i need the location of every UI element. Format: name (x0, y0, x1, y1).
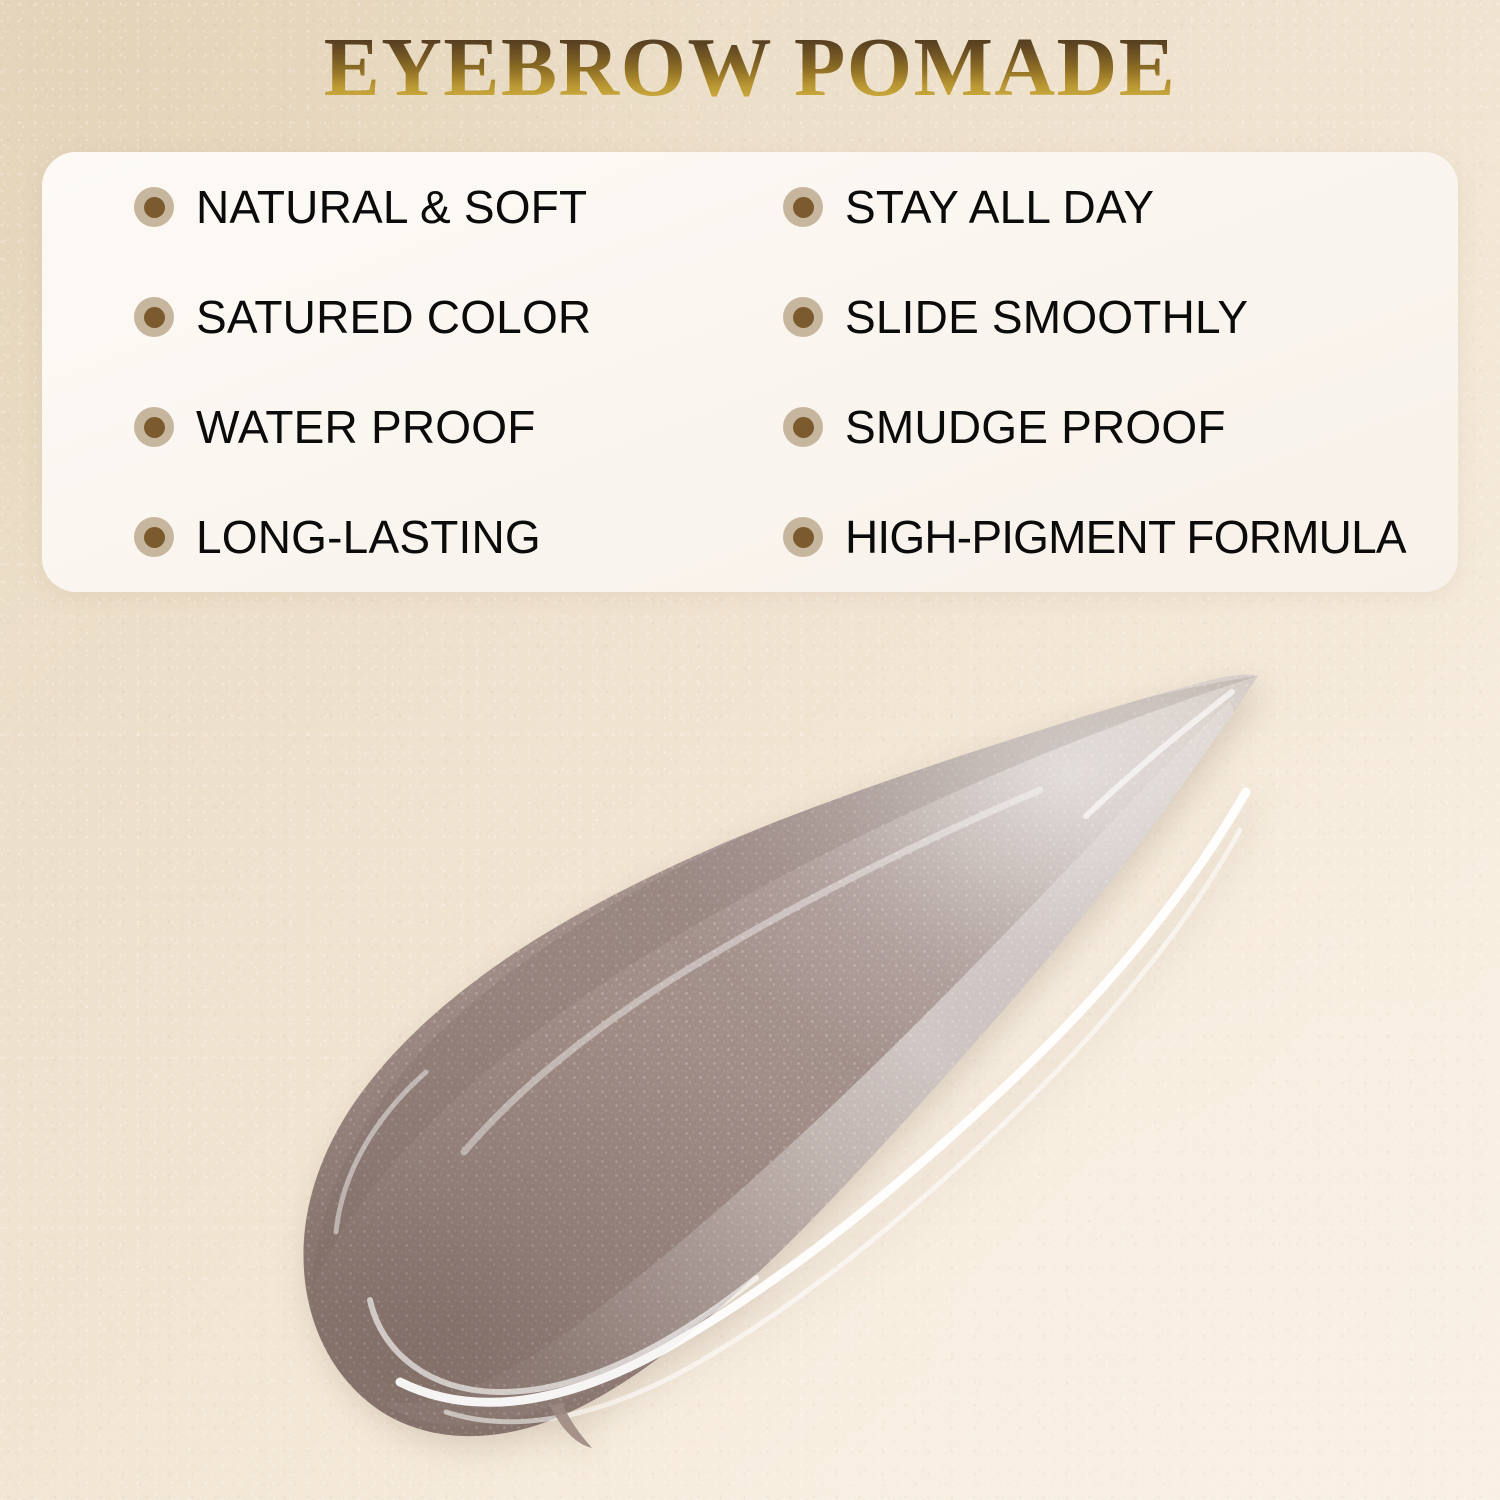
feature-label: LONG-LASTING (196, 514, 541, 560)
product-marketing-image: EYEBROW POMADE NATURAL & SOFT STAY ALL D… (0, 0, 1500, 1500)
feature-item-natural-and-soft: NATURAL & SOFT (42, 184, 710, 230)
product-swatch-area (0, 600, 1500, 1500)
pomade-swatch (250, 640, 1300, 1480)
feature-label: SMUDGE PROOF (845, 404, 1226, 450)
bullet-dot-icon (783, 517, 823, 557)
feature-label: SATURED COLOR (196, 294, 591, 340)
feature-label: HIGH-PIGMENT FORMULA (845, 514, 1406, 560)
feature-item-water-proof: WATER PROOF (42, 404, 710, 450)
feature-item-high-pigment-formula: HIGH-PIGMENT FORMULA (710, 514, 1458, 560)
feature-item-stay-all-day: STAY ALL DAY (710, 184, 1458, 230)
features-grid: NATURAL & SOFT STAY ALL DAY SATURED COLO… (42, 152, 1458, 592)
bullet-dot-icon (134, 407, 174, 447)
feature-label: NATURAL & SOFT (196, 184, 587, 230)
bullet-dot-icon (783, 297, 823, 337)
feature-item-satured-color: SATURED COLOR (42, 294, 710, 340)
feature-label: SLIDE SMOOTHLY (845, 294, 1248, 340)
pomade-swatch-illustration (250, 640, 1300, 1480)
bullet-dot-icon (134, 187, 174, 227)
feature-label: STAY ALL DAY (845, 184, 1154, 230)
bullet-dot-icon (134, 297, 174, 337)
feature-item-slide-smoothly: SLIDE SMOOTHLY (710, 294, 1458, 340)
feature-item-smudge-proof: SMUDGE PROOF (710, 404, 1458, 450)
bullet-dot-icon (134, 517, 174, 557)
page-title: EYEBROW POMADE (0, 26, 1500, 110)
features-card: NATURAL & SOFT STAY ALL DAY SATURED COLO… (42, 152, 1458, 592)
bullet-dot-icon (783, 187, 823, 227)
feature-label: WATER PROOF (196, 404, 536, 450)
feature-item-long-lasting: LONG-LASTING (42, 514, 710, 560)
bullet-dot-icon (783, 407, 823, 447)
